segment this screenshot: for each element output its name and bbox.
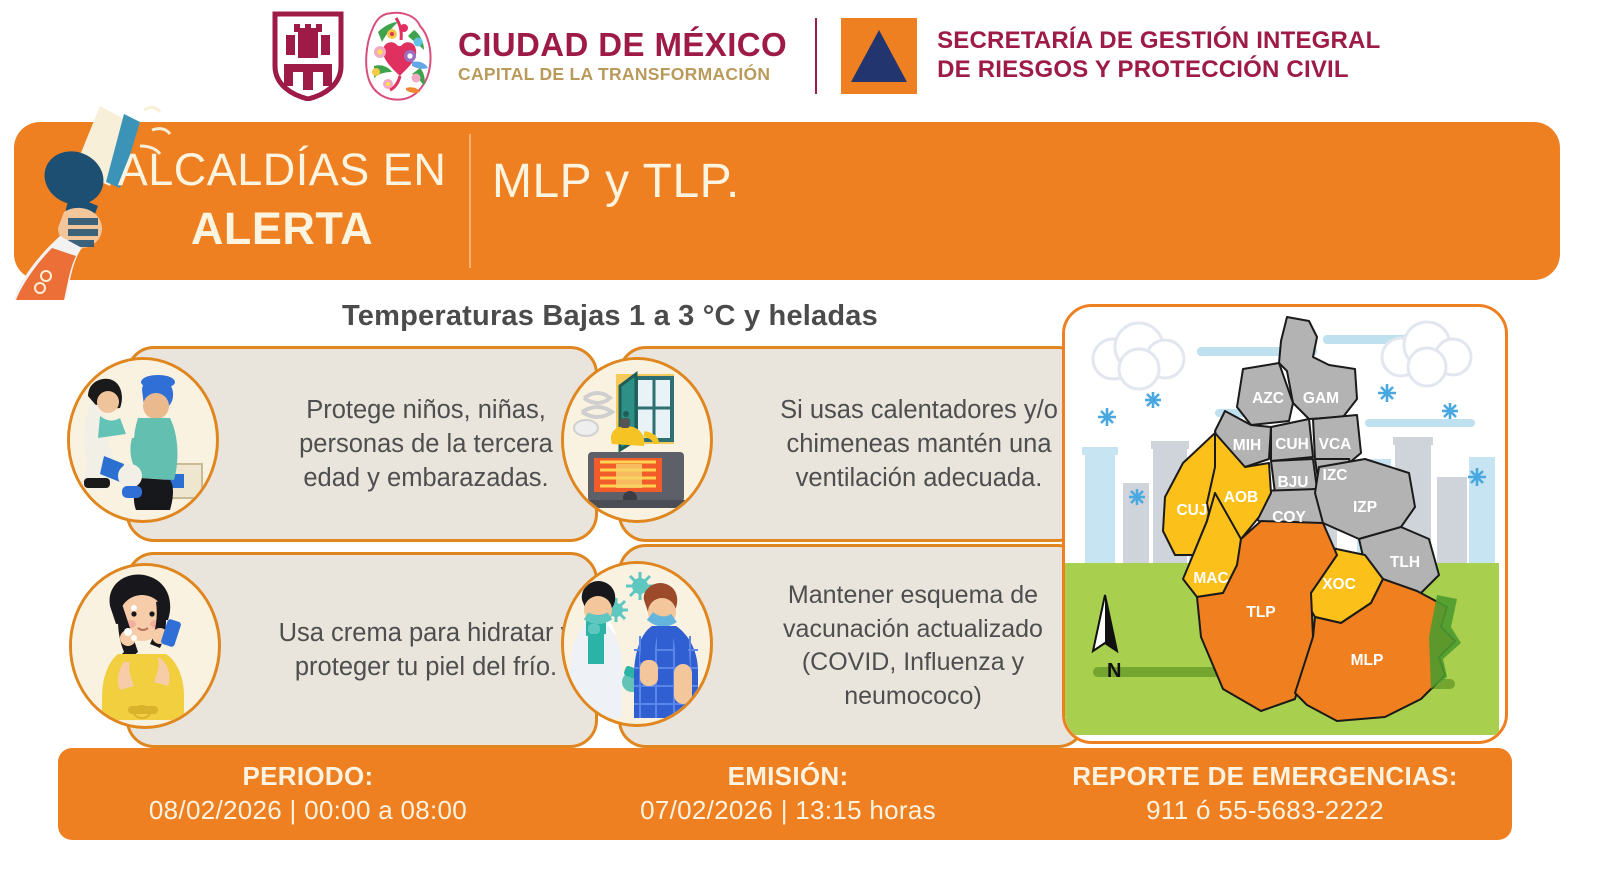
- reporte-value[interactable]: 911 ó 55-5683-2222: [1146, 795, 1384, 827]
- heater-window-ventilation-icon: [561, 357, 713, 523]
- emision-label: EMISIÓN:: [728, 762, 849, 792]
- map-label-izc: IZC: [1323, 467, 1348, 484]
- family-protection-icon: [67, 357, 219, 523]
- civil-protection-triangle-icon: [841, 18, 917, 94]
- card-text: Protege niños, niñas, personas de la ter…: [271, 393, 581, 495]
- map-label-coy: COY: [1272, 509, 1306, 526]
- card-text: Mantener esquema de vacunación actualiza…: [757, 579, 1069, 713]
- recommendation-cards: Protege niños, niñas, personas de la ter…: [58, 344, 1030, 740]
- recommendation-card: Si usas calentadores y/o chimeneas manté…: [618, 346, 1086, 542]
- agency-line-1: SECRETARÍA DE GESTIÓN INTEGRAL: [937, 27, 1380, 55]
- map-label-bju: BJU: [1277, 474, 1308, 491]
- map-label-tlh: TLH: [1390, 554, 1420, 571]
- map-label-aob: AOB: [1224, 489, 1258, 506]
- banner-title-line-1: ALCALDÍAS EN: [118, 144, 447, 195]
- map-label-xoc: XOC: [1322, 576, 1356, 593]
- periodo-value: 08/02/2026 | 00:00 a 08:00: [149, 795, 467, 827]
- footer-emision: EMISIÓN: 07/02/2026 | 13:15 horas: [558, 748, 1018, 840]
- page-title: Temperaturas Bajas 1 a 3 °C y heladas: [290, 300, 930, 333]
- card-text: Usa crema para hidratar y proteger tu pi…: [271, 616, 581, 684]
- map-label-mlp: MLP: [1351, 652, 1384, 669]
- cdmx-alert-map[interactable]: AZC GAM MIH CUH VCA IZC BJU IZP COY TLH …: [1062, 304, 1508, 744]
- map-label-izp: IZP: [1353, 499, 1377, 516]
- banner-subtitle: MLP y TLP.: [492, 154, 740, 209]
- agency-name: SECRETARÍA DE GESTIÓN INTEGRAL DE RIESGO…: [937, 27, 1380, 84]
- map-label-gam: GAM: [1303, 390, 1339, 407]
- cdmx-subtitle: CAPITAL DE LA TRANSFORMACIÓN: [458, 66, 787, 84]
- cdmx-heart-flowers-icon: [358, 10, 440, 102]
- page-header: CIUDAD DE MÉXICO CAPITAL DE LA TRANSFORM…: [0, 0, 1600, 110]
- banner-title: ALCALDÍAS EN ALERTA: [92, 140, 472, 259]
- periodo-label: PERIODO:: [243, 762, 374, 792]
- recommendation-card: Protege niños, niñas, personas de la ter…: [126, 346, 598, 542]
- agency-line-2: DE RIESGOS Y PROTECCIÓN CIVIL: [937, 56, 1380, 84]
- card-text: Si usas calentadores y/o chimeneas manté…: [769, 393, 1069, 495]
- map-label-mac: MAC: [1193, 570, 1228, 587]
- map-label-mih: MIH: [1233, 437, 1261, 454]
- banner-divider: [469, 134, 471, 268]
- skin-cream-icon: [69, 563, 221, 729]
- map-label-cuh: CUH: [1275, 436, 1309, 453]
- vaccination-icon: [561, 561, 713, 727]
- footer-periodo: PERIODO: 08/02/2026 | 00:00 a 08:00: [58, 748, 558, 840]
- header-divider: [815, 18, 817, 94]
- compass-label: N: [1107, 660, 1121, 682]
- alert-banner: ALCALDÍAS EN ALERTA MLP y TLP.: [14, 122, 1560, 280]
- cdmx-title: CIUDAD DE MÉXICO: [458, 28, 787, 61]
- reporte-label: REPORTE DE EMERGENCIAS:: [1072, 762, 1457, 792]
- recommendation-card: Mantener esquema de vacunación actualiza…: [618, 544, 1086, 748]
- info-footer: PERIODO: 08/02/2026 | 00:00 a 08:00 EMIS…: [58, 748, 1512, 840]
- cdmx-brand-text: CIUDAD DE MÉXICO CAPITAL DE LA TRANSFORM…: [458, 28, 787, 84]
- recommendation-card: Usa crema para hidratar y proteger tu pi…: [126, 552, 598, 748]
- banner-title-line-2: ALERTA: [92, 199, 472, 258]
- emision-value: 07/02/2026 | 13:15 horas: [640, 795, 936, 827]
- footer-reporte: REPORTE DE EMERGENCIAS: 911 ó 55-5683-22…: [1018, 748, 1512, 840]
- map-label-azc: AZC: [1252, 390, 1284, 407]
- map-label-vca: VCA: [1319, 436, 1352, 453]
- map-label-tlp: TLP: [1246, 604, 1275, 621]
- map-label-cuj: CUJ: [1176, 502, 1207, 519]
- cdmx-coat-of-arms-icon: [272, 11, 344, 101]
